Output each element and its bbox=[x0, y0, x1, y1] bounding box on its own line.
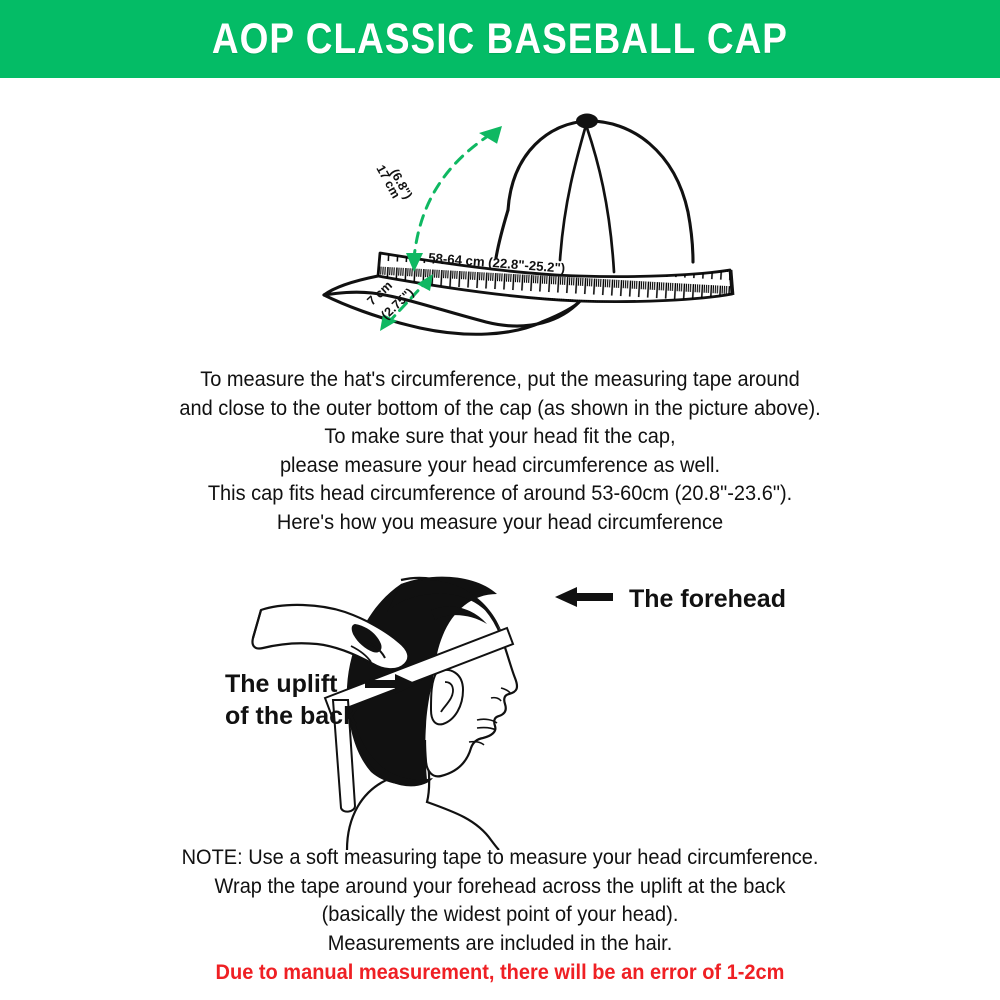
instruction-line: To measure the hat's circumference, put … bbox=[35, 365, 965, 394]
note-line: Wrap the tape around your forehead acros… bbox=[35, 872, 965, 901]
forehead-callout: The forehead bbox=[555, 585, 786, 613]
uplift-label-line1: The uplift bbox=[225, 670, 338, 698]
uplift-label-line2: of the back bbox=[225, 702, 357, 730]
instruction-line: Here's how you measure your head circumf… bbox=[35, 508, 965, 537]
note-block: NOTE: Use a soft measuring tape to measu… bbox=[0, 843, 1000, 987]
forehead-label: The forehead bbox=[629, 585, 786, 613]
cap-crown-button bbox=[576, 114, 598, 129]
measurement-error-warning: Due to manual measurement, there will be… bbox=[35, 957, 965, 987]
note-line: NOTE: Use a soft measuring tape to measu… bbox=[35, 843, 965, 872]
head-measurement-figure: The forehead The uplift of the back bbox=[205, 550, 825, 850]
crown-height-indicator: 17 cm (6.8") bbox=[373, 118, 505, 272]
instruction-line: To make sure that your head fit the cap, bbox=[35, 422, 965, 451]
cap-crown bbox=[496, 114, 693, 273]
note-line: Measurements are included in the hair. bbox=[35, 929, 965, 958]
cap-diagram-svg: 58-64 cm (22.8"-25.2") 17 cm (6.8") 7 cm… bbox=[280, 90, 750, 350]
measuring-instructions: To measure the hat's circumference, put … bbox=[0, 365, 1000, 536]
instruction-line: please measure your head circumference a… bbox=[35, 451, 965, 480]
instruction-line: and close to the outer bottom of the cap… bbox=[35, 394, 965, 423]
header-banner: AOP CLASSIC BASEBALL CAP bbox=[0, 0, 1000, 78]
instruction-line: This cap fits head circumference of arou… bbox=[35, 479, 965, 508]
page-title: AOP CLASSIC BASEBALL CAP bbox=[212, 15, 788, 64]
note-line: (basically the widest point of your head… bbox=[35, 900, 965, 929]
head-diagram-svg: The forehead The uplift of the back bbox=[205, 550, 825, 850]
cap-measurement-figure: 58-64 cm (22.8"-25.2") 17 cm (6.8") 7 cm… bbox=[280, 90, 750, 350]
forehead-arrow-icon bbox=[555, 587, 613, 607]
